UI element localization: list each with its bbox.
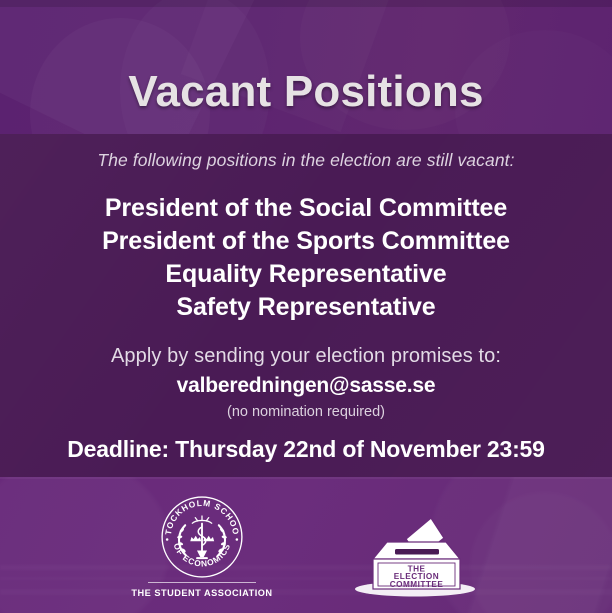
list-item: President of the Social Committee (0, 192, 612, 225)
nomination-note: (no nomination required) (0, 404, 612, 420)
election-committee-logo: THE ELECTION COMMITTEE (345, 497, 485, 599)
ec-label-line-3: COMMITTEE (390, 580, 444, 589)
header-top-strip (0, 0, 612, 7)
footer-band (0, 477, 612, 613)
sse-student-association-logo: STOCKHOLM SCHOOL OF ECONOMICS (128, 495, 276, 598)
footer-stripe-1 (0, 565, 612, 570)
svg-text:STOCKHOLM SCHOOL: STOCKHOLM SCHOOL (160, 495, 241, 536)
footer-stripe-2 (0, 577, 612, 580)
sse-seal-icon: STOCKHOLM SCHOOL OF ECONOMICS (160, 495, 244, 579)
apply-instruction-text: Apply by sending your election promises … (0, 345, 612, 368)
seal-top-text: STOCKHOLM SCHOOL (160, 495, 241, 536)
footer-top-edge (0, 477, 612, 479)
vacant-positions-list: President of the Social Committee Presid… (0, 192, 612, 324)
vacant-positions-poster: Vacant Positions The following positions… (0, 0, 612, 613)
sse-logo-divider (148, 582, 256, 583)
intro-text: The following positions in the election … (0, 150, 612, 171)
list-item: President of the Sports Committee (0, 225, 612, 258)
contact-email[interactable]: valberedningen@sasse.se (0, 374, 612, 398)
list-item: Equality Representative (0, 258, 612, 291)
footer-stripe-3 (0, 589, 612, 595)
page-title: Vacant Positions (0, 69, 612, 115)
sse-logo-caption: THE STUDENT ASSOCIATION (128, 588, 276, 598)
ballot-box-icon: THE ELECTION COMMITTEE (345, 497, 485, 599)
deadline-text: Deadline: Thursday 22nd of November 23:5… (0, 436, 612, 463)
list-item: Safety Representative (0, 291, 612, 324)
content-band: The following positions in the election … (0, 134, 612, 477)
